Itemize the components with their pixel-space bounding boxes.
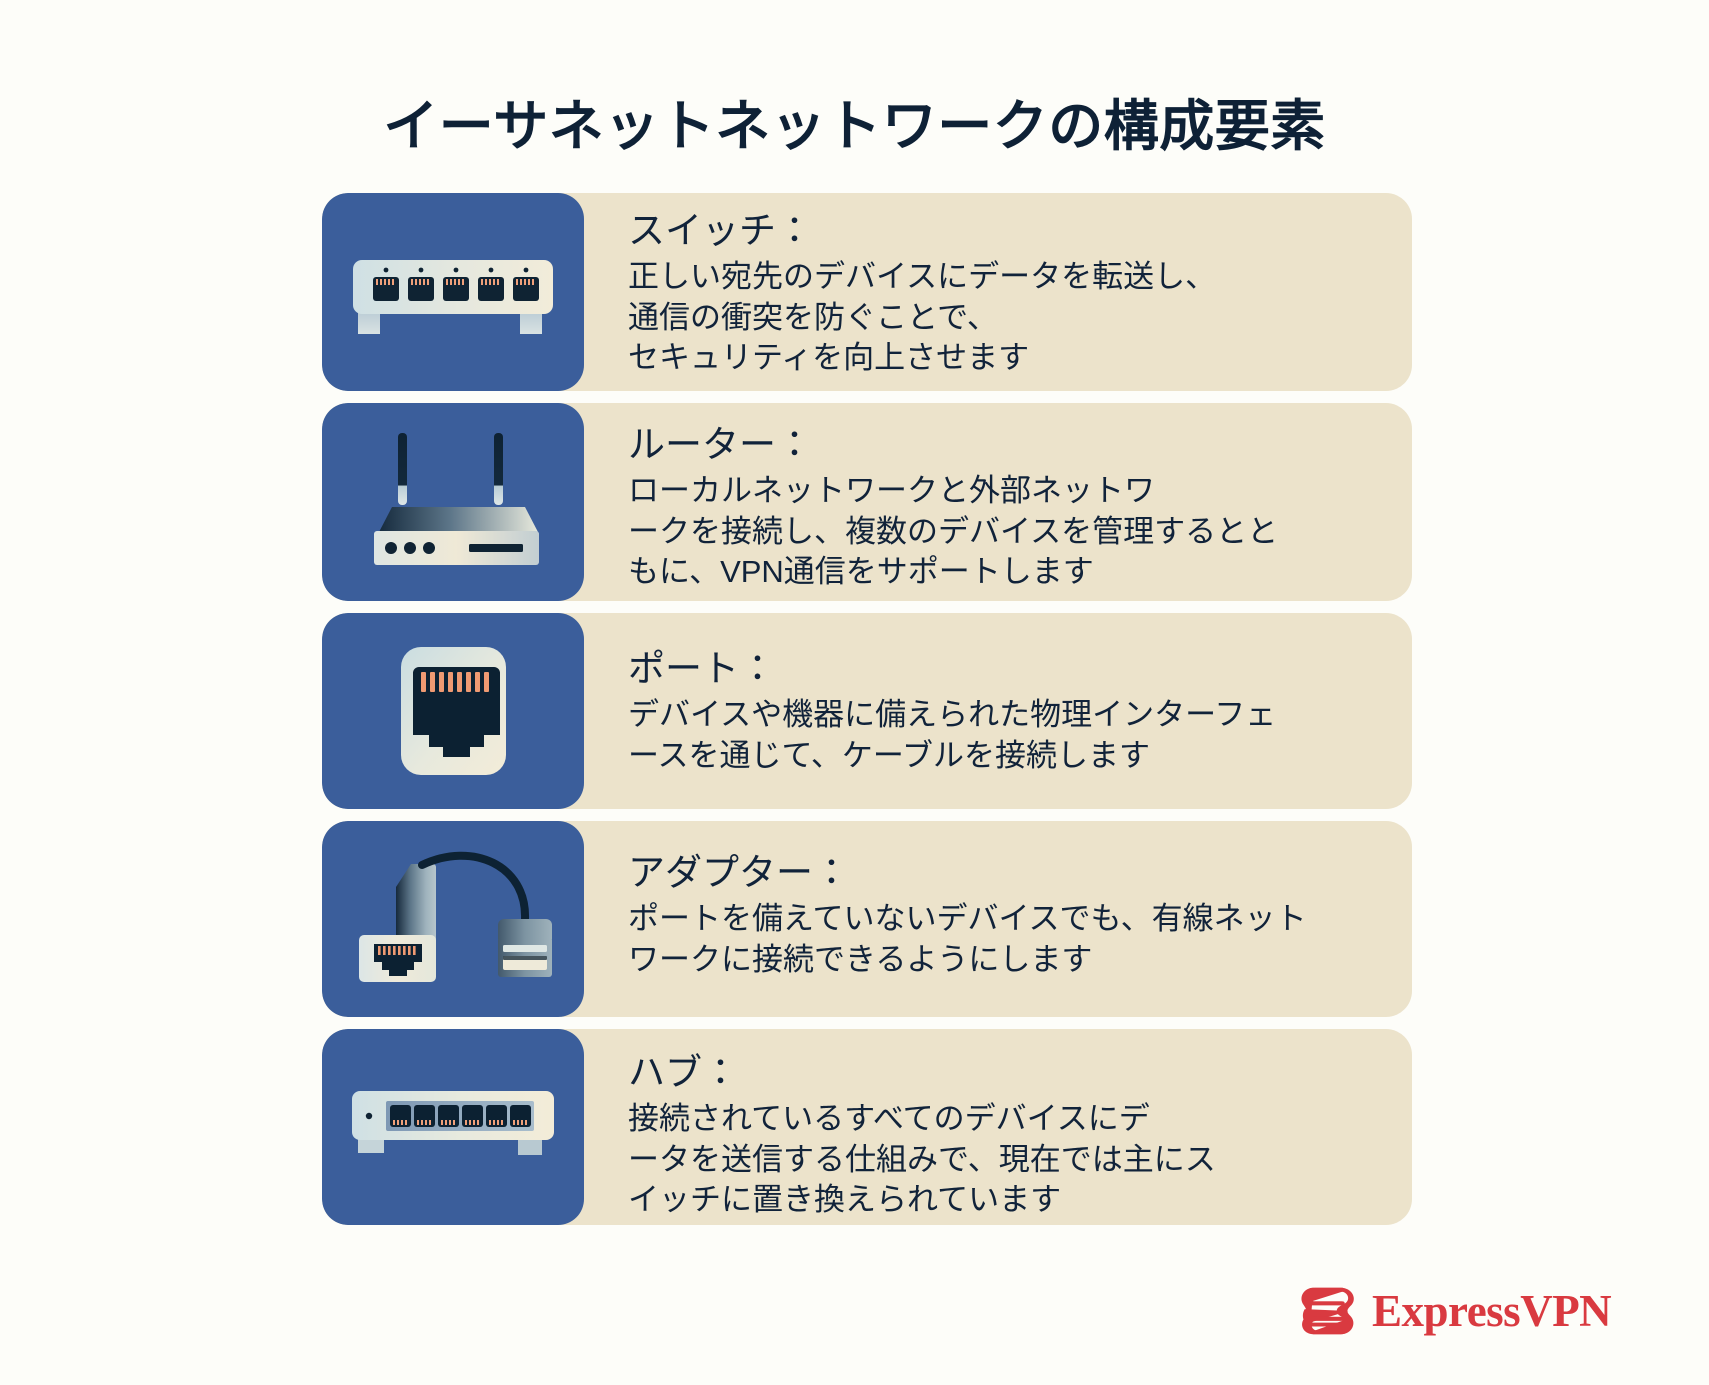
page-title: イーサネットネットワークの構成要素 [0, 95, 1709, 158]
card-body-port: ポート： デバイスや機器に備えられた物理インターフェ ースを通じて、ケーブルを接… [584, 613, 1412, 809]
card-text: ポートを備えていないデバイスでも、有線ネット ワークに接続できるようにします [628, 899, 1382, 980]
card-heading: アダプター： [628, 849, 1382, 896]
rj45-port-icon [322, 613, 584, 809]
card-heading: ポート： [628, 645, 1382, 692]
ethernet-switch-icon [322, 193, 584, 391]
card-text: 接続されているすべてのデバイスにデ ータを送信する仕組みで、現在では主にス イッ… [628, 1099, 1382, 1220]
expressvpn-logo: ExpressVPN [1298, 1280, 1611, 1342]
card-heading: ハブ： [628, 1049, 1382, 1096]
expressvpn-e-mark-icon [1298, 1280, 1360, 1342]
component-card-list: スイッチ： 正しい宛先のデバイスにデータを転送し、 通信の衝突を防ぐことで、 セ… [322, 193, 1412, 1237]
card-text: デバイスや機器に備えられた物理インターフェ ースを通じて、ケーブルを接続します [628, 695, 1382, 776]
card-port: ポート： デバイスや機器に備えられた物理インターフェ ースを通じて、ケーブルを接… [322, 613, 1412, 809]
card-hub: ハブ： 接続されているすべてのデバイスにデ ータを送信する仕組みで、現在では主に… [322, 1029, 1412, 1225]
wifi-router-icon [322, 403, 584, 601]
card-body-router: ルーター： ローカルネットワークと外部ネットワ ークを接続し、複数のデバイスを管… [584, 403, 1412, 601]
card-router: ルーター： ローカルネットワークと外部ネットワ ークを接続し、複数のデバイスを管… [322, 403, 1412, 601]
card-switch: スイッチ： 正しい宛先のデバイスにデータを転送し、 通信の衝突を防ぐことで、 セ… [322, 193, 1412, 391]
card-heading: ルーター： [628, 421, 1382, 468]
card-heading: スイッチ： [628, 207, 1382, 254]
infographic-page: イーサネットネットワークの構成要素 [0, 0, 1709, 1385]
expressvpn-wordmark: ExpressVPN [1372, 1289, 1611, 1334]
card-text: 正しい宛先のデバイスにデータを転送し、 通信の衝突を防ぐことで、 セキュリティを… [628, 257, 1382, 378]
ethernet-hub-icon [322, 1029, 584, 1225]
usb-ethernet-adapter-icon [322, 821, 584, 1017]
card-adapter: アダプター： ポートを備えていないデバイスでも、有線ネット ワークに接続できるよ… [322, 821, 1412, 1017]
card-body-adapter: アダプター： ポートを備えていないデバイスでも、有線ネット ワークに接続できるよ… [584, 821, 1412, 1017]
card-text: ローカルネットワークと外部ネットワ ークを接続し、複数のデバイスを管理するとと … [628, 471, 1382, 592]
card-body-switch: スイッチ： 正しい宛先のデバイスにデータを転送し、 通信の衝突を防ぐことで、 セ… [584, 193, 1412, 391]
card-body-hub: ハブ： 接続されているすべてのデバイスにデ ータを送信する仕組みで、現在では主に… [584, 1029, 1412, 1225]
